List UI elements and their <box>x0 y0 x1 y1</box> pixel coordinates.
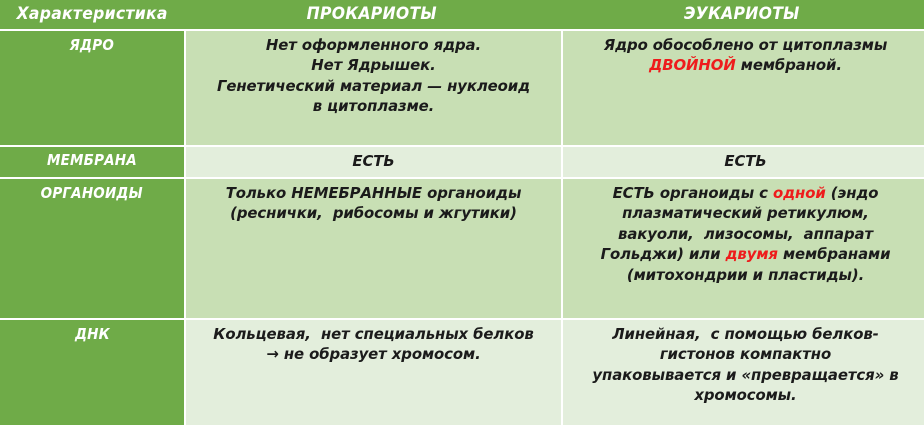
cell-text-part: Ядро обособлено от цитоплазмы <box>604 36 888 54</box>
cell-dna-prokaryotes: Кольцевая, нет специальных белков → не о… <box>186 320 561 425</box>
header-cell-characteristic: Характеристика <box>0 0 184 29</box>
cell-text: Кольцевая, нет специальных белков → не о… <box>201 324 546 365</box>
cell-text: Нет оформленного ядра. Нет Ядрышек. Гене… <box>201 35 546 117</box>
highlighted-term: одной <box>773 184 826 202</box>
cell-text: ЕСТЬ <box>201 151 546 171</box>
row-label-dna: ДНК <box>0 320 184 425</box>
table-bottom-edge <box>0 425 924 428</box>
cell-membrane-eukaryotes: ЕСТЬ <box>563 147 924 177</box>
cell-text-part: ЕСТЬ органоиды с <box>613 184 773 202</box>
row-label-text: ДНК <box>75 326 110 343</box>
header-label-characteristic: Характеристика <box>16 6 167 23</box>
table-row: МЕМБРАНА ЕСТЬ ЕСТЬ <box>0 147 924 177</box>
cell-organelles-prokaryotes: Только НЕМЕБРАННЫЕ органоиды (реснички, … <box>186 179 561 318</box>
table-row: ДНК Кольцевая, нет специальных белков → … <box>0 320 924 425</box>
header-cell-eukaryotes: ЭУКАРИОТЫ <box>559 0 924 29</box>
row-label-nucleus: ЯДРО <box>0 31 184 145</box>
header-label-prokaryotes: ПРОКАРИОТЫ <box>306 6 436 23</box>
cell-nucleus-eukaryotes: Ядро обособлено от цитоплазмы ДВОЙНОЙ ме… <box>563 31 924 145</box>
row-label-membrane: МЕМБРАНА <box>0 147 184 177</box>
highlighted-term: ДВОЙНОЙ <box>649 56 736 74</box>
table-row: ЯДРО Нет оформленного ядра. Нет Ядрышек.… <box>0 31 924 145</box>
cell-text-part: мембраной. <box>736 56 842 74</box>
header-cell-prokaryotes: ПРОКАРИОТЫ <box>184 0 559 29</box>
row-label-text: ЯДРО <box>70 37 115 54</box>
row-label-organelles: ОРГАНОИДЫ <box>0 179 184 318</box>
cell-nucleus-prokaryotes: Нет оформленного ядра. Нет Ядрышек. Гене… <box>186 31 561 145</box>
highlighted-term: двумя <box>726 245 778 263</box>
cell-dna-eukaryotes: Линейная, с помощью белков- гистонов ком… <box>563 320 924 425</box>
cell-organelles-eukaryotes: ЕСТЬ органоиды с одной (эндо плазматичес… <box>563 179 924 318</box>
comparison-table: Характеристика ПРОКАРИОТЫ ЭУКАРИОТЫ ЯДРО… <box>0 0 924 437</box>
row-label-text: МЕМБРАНА <box>47 152 137 169</box>
cell-text: ЕСТЬ органоиды с одной (эндо плазматичес… <box>578 183 913 285</box>
cell-membrane-prokaryotes: ЕСТЬ <box>186 147 561 177</box>
table-row: ОРГАНОИДЫ Только НЕМЕБРАННЫЕ органоиды (… <box>0 179 924 318</box>
cell-text: Линейная, с помощью белков- гистонов ком… <box>578 324 913 406</box>
cell-text: Ядро обособлено от цитоплазмы ДВОЙНОЙ ме… <box>578 35 913 76</box>
cell-text: Только НЕМЕБРАННЫЕ органоиды (реснички, … <box>201 183 546 224</box>
cell-text: ЕСТЬ <box>578 151 913 171</box>
header-label-eukaryotes: ЭУКАРИОТЫ <box>684 6 800 23</box>
row-label-text: ОРГАНОИДЫ <box>41 185 143 202</box>
table-header-row: Характеристика ПРОКАРИОТЫ ЭУКАРИОТЫ <box>0 0 924 29</box>
